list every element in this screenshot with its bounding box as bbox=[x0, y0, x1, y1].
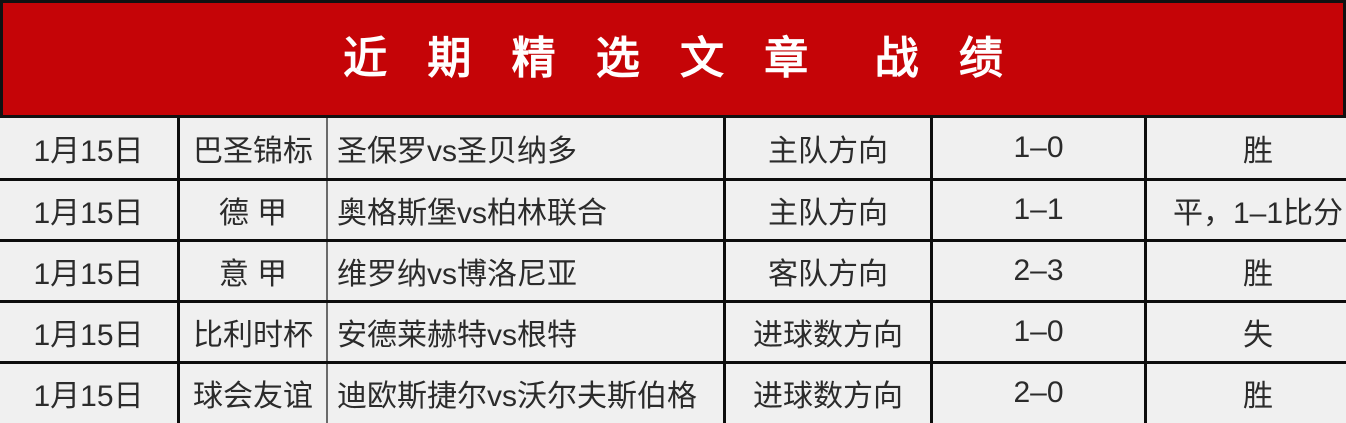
cell-match: 奥格斯堡vs柏林联合 bbox=[327, 179, 725, 240]
cell-date: 1月15日 bbox=[0, 362, 179, 423]
cell-date: 1月15日 bbox=[0, 179, 179, 240]
cell-date: 1月15日 bbox=[0, 240, 179, 301]
cell-score: 2–3 bbox=[932, 240, 1146, 301]
cell-direction: 客队方向 bbox=[725, 240, 932, 301]
status-badge: 失 bbox=[1146, 301, 1346, 362]
recent-articles-results-card: 近 期 精 选 文 章 战 绩 1月15日 巴圣锦标 圣保罗vs圣贝纳多 主队方… bbox=[0, 0, 1346, 422]
page-title: 近 期 精 选 文 章 战 绩 bbox=[329, 37, 1017, 81]
table-row: 1月15日 球会友谊 迪欧斯捷尔vs沃尔夫斯伯格 进球数方向 2–0 胜 bbox=[0, 362, 1346, 423]
cell-match: 安德莱赫特vs根特 bbox=[327, 301, 725, 362]
cell-score: 2–0 bbox=[932, 362, 1146, 423]
cell-score: 1–0 bbox=[932, 118, 1146, 179]
cell-match: 圣保罗vs圣贝纳多 bbox=[327, 118, 725, 179]
cell-league: 球会友谊 bbox=[179, 362, 328, 423]
cell-league: 意 甲 bbox=[179, 240, 328, 301]
cell-score: 1–0 bbox=[932, 301, 1146, 362]
cell-league: 巴圣锦标 bbox=[179, 118, 328, 179]
cell-direction: 进球数方向 bbox=[725, 301, 932, 362]
cell-direction: 进球数方向 bbox=[725, 362, 932, 423]
table-row: 1月15日 比利时杯 安德莱赫特vs根特 进球数方向 1–0 失 bbox=[0, 301, 1346, 362]
status-badge: 平，1–1比分 bbox=[1146, 179, 1346, 240]
status-badge: 胜 bbox=[1146, 240, 1346, 301]
cell-direction: 主队方向 bbox=[725, 179, 932, 240]
status-badge: 胜 bbox=[1146, 118, 1346, 179]
table-row: 1月15日 意 甲 维罗纳vs博洛尼亚 客队方向 2–3 胜 bbox=[0, 240, 1346, 301]
cell-date: 1月15日 bbox=[0, 118, 179, 179]
table-row: 1月15日 巴圣锦标 圣保罗vs圣贝纳多 主队方向 1–0 胜 bbox=[0, 118, 1346, 179]
results-table-body: 1月15日 巴圣锦标 圣保罗vs圣贝纳多 主队方向 1–0 胜 1月15日 德 … bbox=[0, 118, 1346, 423]
cell-score: 1–1 bbox=[932, 179, 1146, 240]
status-badge: 胜 bbox=[1146, 362, 1346, 423]
cell-match: 维罗纳vs博洛尼亚 bbox=[327, 240, 725, 301]
cell-match: 迪欧斯捷尔vs沃尔夫斯伯格 bbox=[327, 362, 725, 423]
results-table: 1月15日 巴圣锦标 圣保罗vs圣贝纳多 主队方向 1–0 胜 1月15日 德 … bbox=[0, 118, 1346, 423]
table-row: 1月15日 德 甲 奥格斯堡vs柏林联合 主队方向 1–1 平，1–1比分 bbox=[0, 179, 1346, 240]
banner-header: 近 期 精 选 文 章 战 绩 bbox=[0, 0, 1346, 118]
cell-league: 比利时杯 bbox=[179, 301, 328, 362]
cell-league: 德 甲 bbox=[179, 179, 328, 240]
cell-date: 1月15日 bbox=[0, 301, 179, 362]
cell-direction: 主队方向 bbox=[725, 118, 932, 179]
